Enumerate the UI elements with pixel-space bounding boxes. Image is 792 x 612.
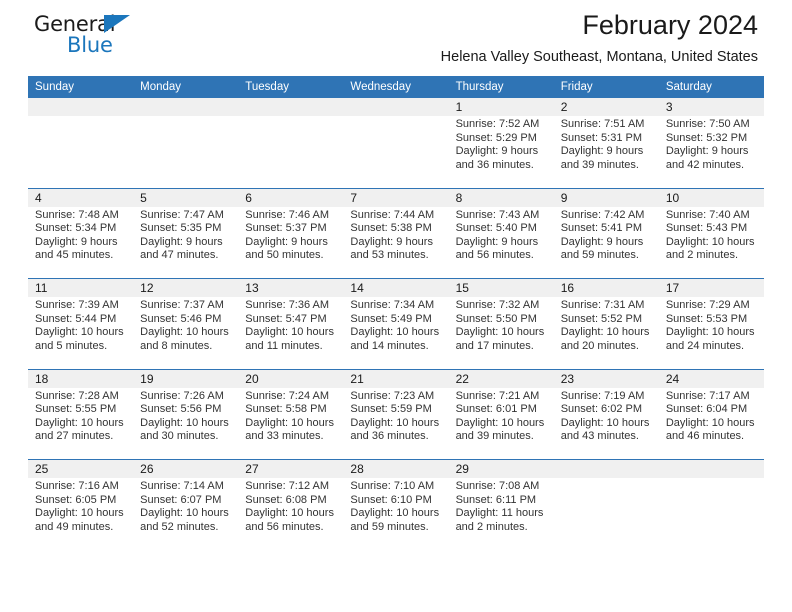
daylight-text: Daylight: 9 hours [561,236,654,250]
week-detail-row: Sunrise: 7:16 AMSunset: 6:05 PMDaylight:… [28,478,764,550]
daylight-text: Daylight: 10 hours [561,417,654,431]
day-details-10[interactable]: Sunrise: 7:40 AMSunset: 5:43 PMDaylight:… [659,207,764,279]
day-number-2[interactable]: 2 [554,98,659,116]
daylight-text-cont: and 56 minutes. [456,249,549,263]
daylight-text: Daylight: 10 hours [140,507,233,521]
sunset-text: Sunset: 6:02 PM [561,403,654,417]
day-details-14[interactable]: Sunrise: 7:34 AMSunset: 5:49 PMDaylight:… [343,297,448,369]
daylight-text-cont: and 2 minutes. [456,521,549,535]
sunrise-text: Sunrise: 7:40 AM [666,209,759,223]
daylight-text-cont: and 42 minutes. [666,159,759,173]
daylight-text: Daylight: 11 hours [456,507,549,521]
sunrise-text: Sunrise: 7:44 AM [350,209,443,223]
page-title: February 2024 [441,8,758,42]
sunrise-text: Sunrise: 7:23 AM [350,390,443,404]
day-details-8[interactable]: Sunrise: 7:43 AMSunset: 5:40 PMDaylight:… [449,207,554,279]
daylight-text-cont: and 49 minutes. [35,521,128,535]
daylight-text: Daylight: 9 hours [140,236,233,250]
daylight-text: Daylight: 9 hours [456,236,549,250]
sunset-text: Sunset: 5:46 PM [140,313,233,327]
day-details-2[interactable]: Sunrise: 7:51 AMSunset: 5:31 PMDaylight:… [554,116,659,188]
day-number-15[interactable]: 15 [449,279,554,298]
daylight-text: Daylight: 10 hours [140,417,233,431]
day-details-27[interactable]: Sunrise: 7:12 AMSunset: 6:08 PMDaylight:… [238,478,343,550]
sunrise-text: Sunrise: 7:21 AM [456,390,549,404]
weekday-header-monday: Monday [133,76,238,98]
sunset-text: Sunset: 5:58 PM [245,403,338,417]
day-details-1[interactable]: Sunrise: 7:52 AMSunset: 5:29 PMDaylight:… [449,116,554,188]
daylight-text: Daylight: 9 hours [35,236,128,250]
weekday-header-row: SundayMondayTuesdayWednesdayThursdayFrid… [28,76,764,98]
sunrise-text: Sunrise: 7:43 AM [456,209,549,223]
page-subtitle: Helena Valley Southeast, Montana, United… [441,48,758,66]
day-details-empty [28,116,133,188]
day-number-7[interactable]: 7 [343,188,448,207]
daylight-text: Daylight: 10 hours [245,417,338,431]
day-details-20[interactable]: Sunrise: 7:24 AMSunset: 5:58 PMDaylight:… [238,388,343,460]
sunrise-text: Sunrise: 7:17 AM [666,390,759,404]
sunrise-text: Sunrise: 7:37 AM [140,299,233,313]
day-details-3[interactable]: Sunrise: 7:50 AMSunset: 5:32 PMDaylight:… [659,116,764,188]
sunset-text: Sunset: 5:41 PM [561,222,654,236]
sunset-text: Sunset: 5:35 PM [140,222,233,236]
day-number-10[interactable]: 10 [659,188,764,207]
daylight-text-cont: and 30 minutes. [140,430,233,444]
daylight-text: Daylight: 10 hours [666,326,759,340]
daylight-text: Daylight: 10 hours [245,507,338,521]
sunset-text: Sunset: 5:31 PM [561,132,654,146]
sunset-text: Sunset: 5:38 PM [350,222,443,236]
weekday-header-tuesday: Tuesday [238,76,343,98]
sunrise-text: Sunrise: 7:42 AM [561,209,654,223]
sunrise-text: Sunrise: 7:28 AM [35,390,128,404]
calendar-page: General Blue February 2024 Helena Valley… [0,0,792,612]
day-details-29[interactable]: Sunrise: 7:08 AMSunset: 6:11 PMDaylight:… [449,478,554,550]
sunset-text: Sunset: 5:52 PM [561,313,654,327]
sunset-text: Sunset: 5:44 PM [35,313,128,327]
day-details-empty [238,116,343,188]
sunrise-text: Sunrise: 7:26 AM [140,390,233,404]
day-details-13[interactable]: Sunrise: 7:36 AMSunset: 5:47 PMDaylight:… [238,297,343,369]
day-details-11[interactable]: Sunrise: 7:39 AMSunset: 5:44 PMDaylight:… [28,297,133,369]
day-number-22[interactable]: 22 [449,369,554,388]
daylight-text-cont: and 50 minutes. [245,249,338,263]
daylight-text: Daylight: 10 hours [245,326,338,340]
day-details-15[interactable]: Sunrise: 7:32 AMSunset: 5:50 PMDaylight:… [449,297,554,369]
day-number-18[interactable]: 18 [28,369,133,388]
daylight-text: Daylight: 10 hours [35,326,128,340]
daylight-text-cont: and 24 minutes. [666,340,759,354]
sunrise-text: Sunrise: 7:32 AM [456,299,549,313]
weekday-header-friday: Friday [554,76,659,98]
daylight-text: Daylight: 9 hours [245,236,338,250]
sunrise-text: Sunrise: 7:34 AM [350,299,443,313]
day-details-5[interactable]: Sunrise: 7:47 AMSunset: 5:35 PMDaylight:… [133,207,238,279]
day-number-26[interactable]: 26 [133,460,238,479]
sunrise-text: Sunrise: 7:48 AM [35,209,128,223]
daylight-text-cont: and 36 minutes. [350,430,443,444]
sunset-text: Sunset: 5:53 PM [666,313,759,327]
day-number-25[interactable]: 25 [28,460,133,479]
day-details-26[interactable]: Sunrise: 7:14 AMSunset: 6:07 PMDaylight:… [133,478,238,550]
day-number-5[interactable]: 5 [133,188,238,207]
daylight-text-cont: and 11 minutes. [245,340,338,354]
day-details-19[interactable]: Sunrise: 7:26 AMSunset: 5:56 PMDaylight:… [133,388,238,460]
day-details-23[interactable]: Sunrise: 7:19 AMSunset: 6:02 PMDaylight:… [554,388,659,460]
day-details-empty [659,478,764,550]
sunset-text: Sunset: 6:01 PM [456,403,549,417]
day-number-8[interactable]: 8 [449,188,554,207]
day-details-empty [343,116,448,188]
daylight-text: Daylight: 10 hours [666,417,759,431]
sunset-text: Sunset: 5:50 PM [456,313,549,327]
day-number-21[interactable]: 21 [343,369,448,388]
sunrise-text: Sunrise: 7:12 AM [245,480,338,494]
sunset-text: Sunset: 6:08 PM [245,494,338,508]
day-number-17[interactable]: 17 [659,279,764,298]
day-number-empty [554,460,659,479]
weekday-header-saturday: Saturday [659,76,764,98]
daylight-text: Daylight: 9 hours [561,145,654,159]
title-block: February 2024 Helena Valley Southeast, M… [441,8,758,66]
day-number-1[interactable]: 1 [449,98,554,116]
daylight-text-cont: and 39 minutes. [561,159,654,173]
sunset-text: Sunset: 5:40 PM [456,222,549,236]
daylight-text-cont: and 59 minutes. [350,521,443,535]
day-details-17[interactable]: Sunrise: 7:29 AMSunset: 5:53 PMDaylight:… [659,297,764,369]
sunset-text: Sunset: 6:05 PM [35,494,128,508]
daylight-text: Daylight: 9 hours [350,236,443,250]
day-details-7[interactable]: Sunrise: 7:44 AMSunset: 5:38 PMDaylight:… [343,207,448,279]
day-number-20[interactable]: 20 [238,369,343,388]
daylight-text-cont: and 56 minutes. [245,521,338,535]
daylight-text-cont: and 33 minutes. [245,430,338,444]
sunset-text: Sunset: 6:10 PM [350,494,443,508]
day-number-6[interactable]: 6 [238,188,343,207]
generalblue-logo[interactable]: General Blue [34,12,164,60]
daylight-text: Daylight: 10 hours [561,326,654,340]
week-daynumber-row: 2526272829 [28,460,764,479]
sunrise-text: Sunrise: 7:36 AM [245,299,338,313]
sunrise-text: Sunrise: 7:14 AM [140,480,233,494]
sunrise-text: Sunrise: 7:29 AM [666,299,759,313]
daylight-text-cont: and 8 minutes. [140,340,233,354]
week-daynumber-row: 11121314151617 [28,279,764,298]
day-number-empty [659,460,764,479]
sunrise-text: Sunrise: 7:08 AM [456,480,549,494]
day-details-6[interactable]: Sunrise: 7:46 AMSunset: 5:37 PMDaylight:… [238,207,343,279]
sunrise-text: Sunrise: 7:46 AM [245,209,338,223]
sunset-text: Sunset: 6:04 PM [666,403,759,417]
sunset-text: Sunset: 5:55 PM [35,403,128,417]
day-number-empty [238,98,343,116]
daylight-text-cont: and 17 minutes. [456,340,549,354]
sunset-text: Sunset: 5:32 PM [666,132,759,146]
sunset-text: Sunset: 5:37 PM [245,222,338,236]
day-number-3[interactable]: 3 [659,98,764,116]
daylight-text-cont: and 14 minutes. [350,340,443,354]
daylight-text-cont: and 43 minutes. [561,430,654,444]
daylight-text: Daylight: 10 hours [350,417,443,431]
weekday-header-wednesday: Wednesday [343,76,448,98]
sunrise-text: Sunrise: 7:50 AM [666,118,759,132]
daylight-text: Daylight: 10 hours [140,326,233,340]
day-number-11[interactable]: 11 [28,279,133,298]
week-detail-row: Sunrise: 7:52 AMSunset: 5:29 PMDaylight:… [28,116,764,188]
day-details-16[interactable]: Sunrise: 7:31 AMSunset: 5:52 PMDaylight:… [554,297,659,369]
day-details-18[interactable]: Sunrise: 7:28 AMSunset: 5:55 PMDaylight:… [28,388,133,460]
daylight-text-cont: and 27 minutes. [35,430,128,444]
week-detail-row: Sunrise: 7:39 AMSunset: 5:44 PMDaylight:… [28,297,764,369]
day-details-25[interactable]: Sunrise: 7:16 AMSunset: 6:05 PMDaylight:… [28,478,133,550]
daylight-text: Daylight: 10 hours [350,326,443,340]
sunset-text: Sunset: 5:56 PM [140,403,233,417]
weekday-header-thursday: Thursday [449,76,554,98]
day-number-19[interactable]: 19 [133,369,238,388]
daylight-text-cont: and 47 minutes. [140,249,233,263]
week-daynumber-row: 18192021222324 [28,369,764,388]
day-number-29[interactable]: 29 [449,460,554,479]
sunrise-text: Sunrise: 7:10 AM [350,480,443,494]
daylight-text-cont: and 20 minutes. [561,340,654,354]
day-number-24[interactable]: 24 [659,369,764,388]
week-detail-row: Sunrise: 7:28 AMSunset: 5:55 PMDaylight:… [28,388,764,460]
sunrise-text: Sunrise: 7:51 AM [561,118,654,132]
daylight-text-cont: and 5 minutes. [35,340,128,354]
weekday-header-sunday: Sunday [28,76,133,98]
sunrise-text: Sunrise: 7:31 AM [561,299,654,313]
week-daynumber-row: 45678910 [28,188,764,207]
day-number-12[interactable]: 12 [133,279,238,298]
day-number-28[interactable]: 28 [343,460,448,479]
daylight-text: Daylight: 10 hours [456,326,549,340]
calendar-header-row: SundayMondayTuesdayWednesdayThursdayFrid… [28,76,764,98]
daylight-text: Daylight: 10 hours [35,417,128,431]
sunrise-text: Sunrise: 7:16 AM [35,480,128,494]
logo-triangle-icon [104,15,130,33]
sunrise-text: Sunrise: 7:24 AM [245,390,338,404]
week-daynumber-row: 123 [28,98,764,116]
daylight-text-cont: and 45 minutes. [35,249,128,263]
daylight-text-cont: and 36 minutes. [456,159,549,173]
sunset-text: Sunset: 5:59 PM [350,403,443,417]
daylight-text-cont: and 39 minutes. [456,430,549,444]
day-number-empty [28,98,133,116]
daylight-text-cont: and 46 minutes. [666,430,759,444]
page-header: General Blue February 2024 Helena Valley… [28,0,764,76]
day-details-24[interactable]: Sunrise: 7:17 AMSunset: 6:04 PMDaylight:… [659,388,764,460]
day-number-13[interactable]: 13 [238,279,343,298]
day-details-28[interactable]: Sunrise: 7:10 AMSunset: 6:10 PMDaylight:… [343,478,448,550]
sunrise-text: Sunrise: 7:19 AM [561,390,654,404]
sunrise-text: Sunrise: 7:52 AM [456,118,549,132]
logo-text-blue: Blue [67,33,113,57]
daylight-text: Daylight: 10 hours [456,417,549,431]
day-number-9[interactable]: 9 [554,188,659,207]
daylight-text-cont: and 2 minutes. [666,249,759,263]
sunrise-text: Sunrise: 7:47 AM [140,209,233,223]
sunset-text: Sunset: 5:29 PM [456,132,549,146]
day-number-4[interactable]: 4 [28,188,133,207]
daylight-text: Daylight: 10 hours [666,236,759,250]
daylight-text: Daylight: 10 hours [35,507,128,521]
day-details-12[interactable]: Sunrise: 7:37 AMSunset: 5:46 PMDaylight:… [133,297,238,369]
day-details-21[interactable]: Sunrise: 7:23 AMSunset: 5:59 PMDaylight:… [343,388,448,460]
day-number-empty [133,98,238,116]
daylight-text-cont: and 59 minutes. [561,249,654,263]
day-number-empty [343,98,448,116]
daylight-text-cont: and 52 minutes. [140,521,233,535]
day-number-27[interactable]: 27 [238,460,343,479]
daylight-text: Daylight: 9 hours [456,145,549,159]
sunset-text: Sunset: 6:07 PM [140,494,233,508]
sunrise-sunset-calendar: SundayMondayTuesdayWednesdayThursdayFrid… [28,76,764,550]
sunrise-text: Sunrise: 7:39 AM [35,299,128,313]
week-detail-row: Sunrise: 7:48 AMSunset: 5:34 PMDaylight:… [28,207,764,279]
sunset-text: Sunset: 6:11 PM [456,494,549,508]
day-number-23[interactable]: 23 [554,369,659,388]
sunset-text: Sunset: 5:49 PM [350,313,443,327]
day-number-14[interactable]: 14 [343,279,448,298]
sunset-text: Sunset: 5:34 PM [35,222,128,236]
sunset-text: Sunset: 5:43 PM [666,222,759,236]
day-details-4[interactable]: Sunrise: 7:48 AMSunset: 5:34 PMDaylight:… [28,207,133,279]
sunset-text: Sunset: 5:47 PM [245,313,338,327]
daylight-text: Daylight: 9 hours [666,145,759,159]
day-details-empty [554,478,659,550]
daylight-text: Daylight: 10 hours [350,507,443,521]
day-details-22[interactable]: Sunrise: 7:21 AMSunset: 6:01 PMDaylight:… [449,388,554,460]
day-number-16[interactable]: 16 [554,279,659,298]
day-details-9[interactable]: Sunrise: 7:42 AMSunset: 5:41 PMDaylight:… [554,207,659,279]
day-details-empty [133,116,238,188]
daylight-text-cont: and 53 minutes. [350,249,443,263]
